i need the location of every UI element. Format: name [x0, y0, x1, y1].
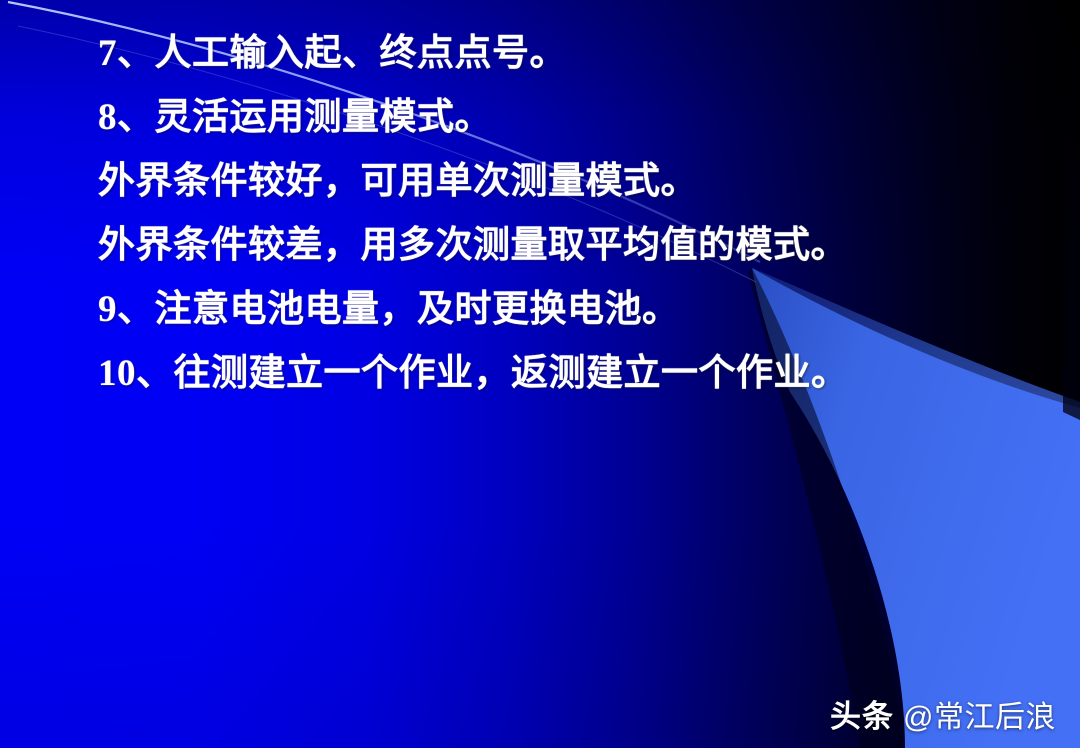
presentation-slide: 7、人工输入起、终点点号。 8、灵活运用测量模式。 外界条件较好，可用单次测量模… — [0, 0, 1080, 748]
body-line-6: 10、往测建立一个作业，返测建立一个作业。 — [0, 342, 1080, 406]
body-line-1: 7、人工输入起、终点点号。 — [0, 22, 1080, 86]
body-line-5: 9、注意电池电量，及时更换电池。 — [0, 278, 1080, 342]
slide-body-text: 7、人工输入起、终点点号。 8、灵活运用测量模式。 外界条件较好，可用单次测量模… — [0, 0, 1080, 406]
body-line-2: 8、灵活运用测量模式。 — [0, 86, 1080, 150]
body-line-4: 外界条件较差，用多次测量取平均值的模式。 — [0, 214, 1080, 278]
watermark-brand: 头条 — [830, 691, 894, 736]
watermark-handle: @常江后浪 — [903, 692, 1056, 736]
body-line-3: 外界条件较好，可用单次测量模式。 — [0, 150, 1080, 214]
watermark: 头条 @常江后浪 — [830, 691, 1056, 736]
